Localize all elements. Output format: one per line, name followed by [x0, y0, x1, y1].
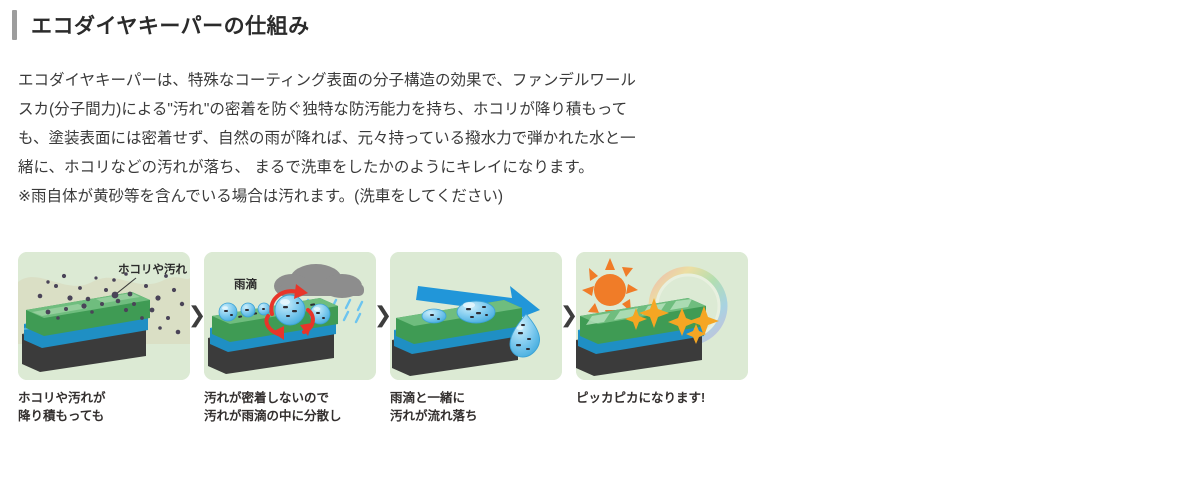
step-2-illustration: 雨滴: [204, 252, 376, 380]
page-title: エコダイヤキーパーの仕組み: [31, 10, 310, 40]
step-2-caption-line-2: 汚れが雨滴の中に分散し: [204, 407, 376, 425]
step-3-caption-line-2: 汚れが流れ落ち: [390, 407, 562, 425]
description-line-2: スカ(分子間力)による"汚れ"の密着を防ぐ独特な防汚能力を持ち、ホコリが降り積も…: [18, 95, 748, 124]
description-note: ※雨自体が黄砂等を含んでいる場合は汚れます。(洗車をしてください): [18, 182, 748, 211]
chevron-right-icon-3: ❯: [562, 252, 576, 380]
step-3-caption-line-1: 雨滴と一緒に: [390, 389, 562, 407]
step-1-caption: ホコリや汚れが 降り積もっても: [18, 389, 190, 425]
process-steps: ホコリや汚れ ホコリや汚れが 降り積もっても ❯: [18, 252, 748, 425]
step-1-illustration: ホコリや汚れ: [18, 252, 190, 380]
step-4-caption-line-1: ピッカピカになります!: [576, 389, 748, 407]
step-3-caption: 雨滴と一緒に 汚れが流れ落ち: [390, 389, 562, 425]
description-line-3: も、塗装表面には密着せず、自然の雨が降れば、元々持っている撥水力で弾かれた水と一: [18, 124, 748, 153]
step-4-illustration: [576, 252, 748, 380]
rain-dispersion-diagram: [204, 252, 376, 380]
page-heading: エコダイヤキーパーの仕組み: [12, 10, 310, 40]
step-2-panel-label: 雨滴: [234, 276, 257, 292]
description-line-1: エコダイヤキーパーは、特殊なコーティング表面の分子構造の効果で、ファンデルワール: [18, 66, 748, 95]
step-washes-away: 雨滴と一緒に 汚れが流れ落ち: [390, 252, 562, 425]
step-1-caption-line-1: ホコリや汚れが: [18, 389, 190, 407]
runoff-diagram: [390, 252, 562, 380]
chevron-right-icon-2: ❯: [376, 252, 390, 380]
description-paragraph: エコダイヤキーパーは、特殊なコーティング表面の分子構造の効果で、ファンデルワール…: [18, 66, 748, 211]
clean-shine-diagram: [576, 252, 748, 380]
step-rain-disperses: 雨滴 汚れが密着しないので 汚れが雨滴の中に分散し: [204, 252, 376, 425]
heading-accent-bar: [12, 10, 17, 40]
step-1-panel-label: ホコリや汚れ: [118, 261, 187, 277]
step-shiny-clean: ピッカピカになります!: [576, 252, 748, 407]
chevron-right-icon-1: ❯: [190, 252, 204, 380]
description-line-4: 緒に、ホコリなどの汚れが落ち、 まるで洗車をしたかのようにキレイになります。: [18, 153, 748, 182]
step-2-caption-line-1: 汚れが密着しないので: [204, 389, 376, 407]
step-1-caption-line-2: 降り積もっても: [18, 407, 190, 425]
step-2-caption: 汚れが密着しないので 汚れが雨滴の中に分散し: [204, 389, 376, 425]
step-4-caption: ピッカピカになります!: [576, 389, 748, 407]
step-dust-settles: ホコリや汚れ ホコリや汚れが 降り積もっても: [18, 252, 190, 425]
page-root: エコダイヤキーパーの仕組み エコダイヤキーパーは、特殊なコーティング表面の分子構…: [0, 0, 1200, 493]
step-3-illustration: [390, 252, 562, 380]
